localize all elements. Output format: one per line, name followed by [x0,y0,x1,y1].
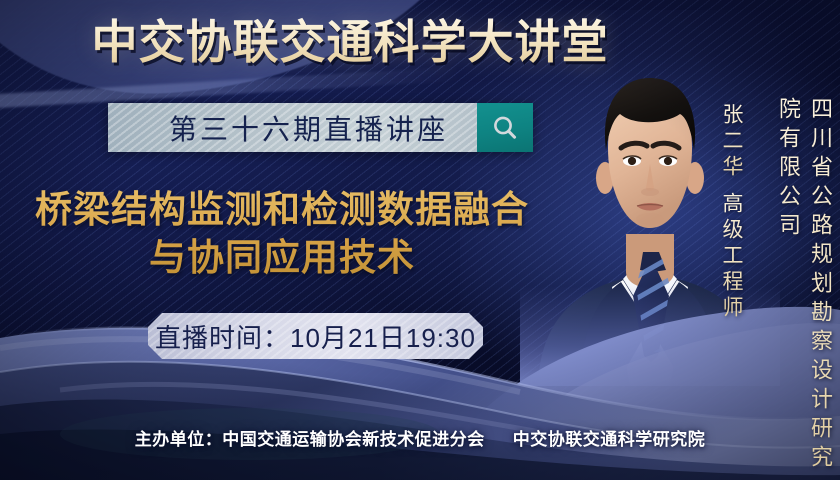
speaker-name: 张二华 [716,103,746,181]
topic-line-2: 与协同应用技术 [12,234,552,282]
footer-hosts: 主办单位：中国交通运输协会新技术促进分会中交协联交通科学研究院 [0,425,840,450]
search-icon [490,113,520,143]
speaker-organization: 四川省公路规划勘察设计研究院有限公司 [772,97,836,480]
host-name-1: 中国交通运输协会新技术促进分会 [222,430,485,449]
promotional-poster: 中交协联交通科学大讲堂 第三十六期直播讲座 桥梁结构监测和检测数据融合 与协同应… [0,0,840,480]
speaker-title: 高级工程师 [716,192,746,322]
topic-line-1: 桥梁结构监测和检测数据融合 [12,186,552,234]
host-name-2: 中交协联交通科学研究院 [513,430,706,449]
episode-search-bar[interactable]: 第三十六期直播讲座 [108,103,533,152]
host-label: 主办单位： [135,430,223,449]
page-title: 中交协联交通科学大讲堂 [0,16,700,68]
lecture-topic: 桥梁结构监测和检测数据融合 与协同应用技术 [12,186,552,282]
broadcast-time-text: 直播时间：10月21日19:30 [155,318,476,355]
broadcast-time-badge: 直播时间：10月21日19:30 [148,313,483,359]
search-button[interactable] [477,103,533,152]
episode-label: 第三十六期直播讲座 [129,108,456,148]
search-input[interactable]: 第三十六期直播讲座 [108,103,477,152]
